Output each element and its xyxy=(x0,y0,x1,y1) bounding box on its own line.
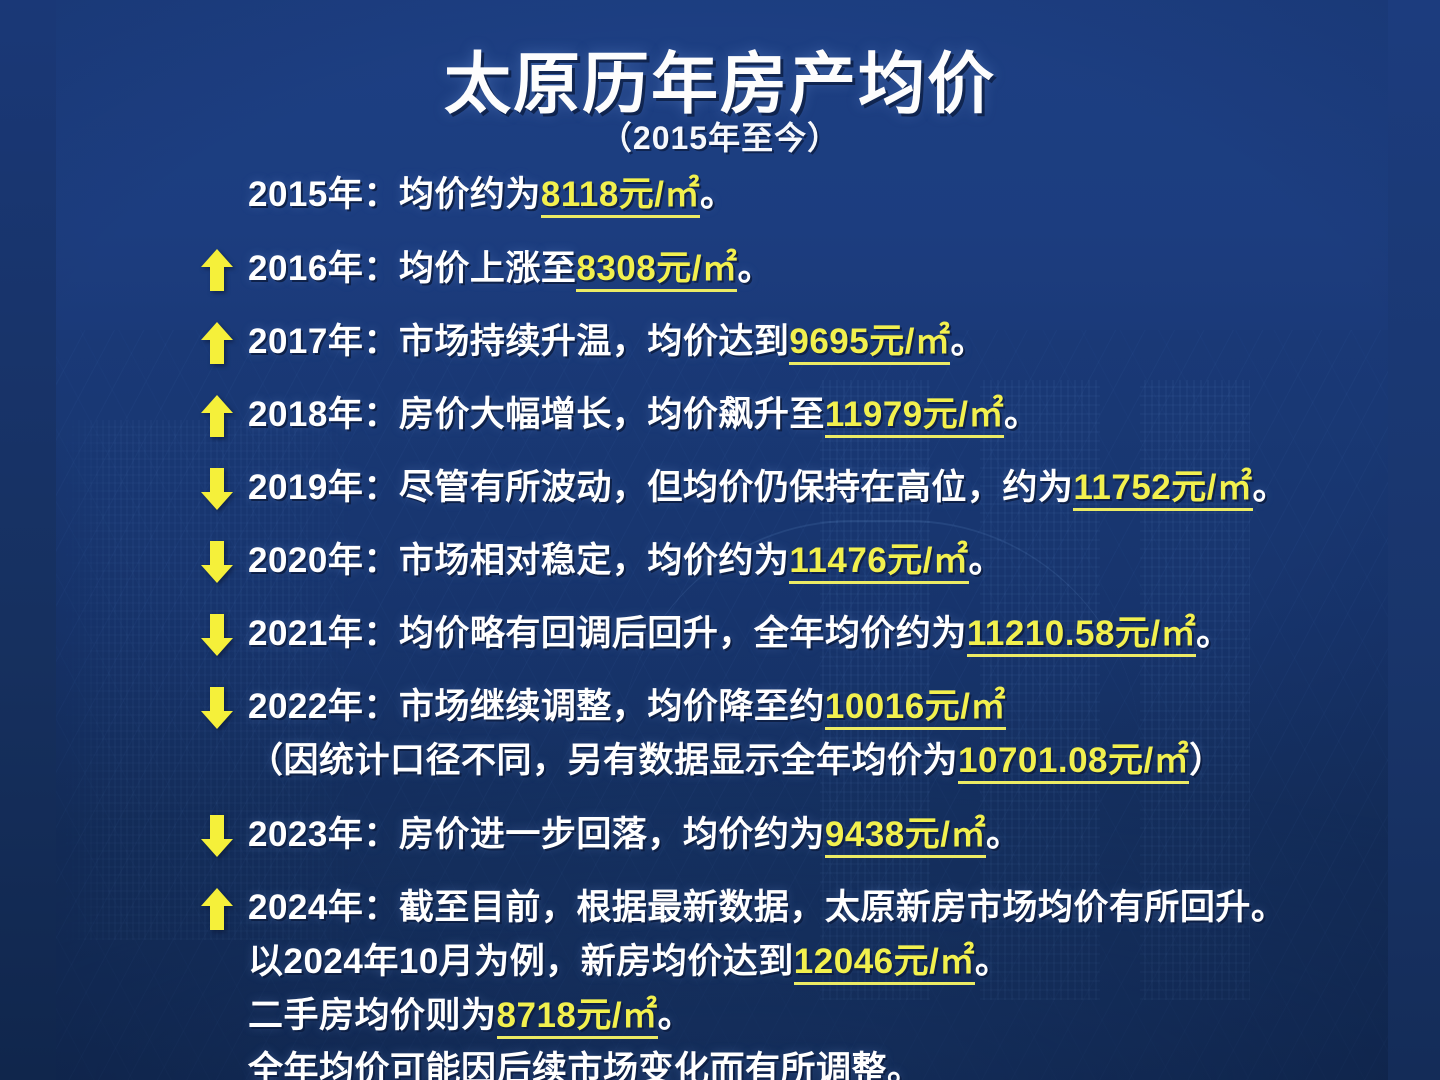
text-segment: 全年均价可能因后续市场变化而有所调整。 xyxy=(248,1050,923,1080)
price-value: 8718元/㎡ xyxy=(497,996,658,1039)
text-segment: 。 xyxy=(1253,468,1289,507)
year-text-line: 2018年：房价大幅增长，均价飙升至11979元/㎡。 xyxy=(248,388,1440,442)
price-value: 11210.58元/㎡ xyxy=(967,614,1196,657)
year-row: 2022年：市场继续调整，均价降至约10016元/㎡（因统计口径不同，另有数据显… xyxy=(0,680,1440,788)
year-row-text: 2024年：截至目前，根据最新数据，太原新房市场均价有所回升。以2024年10月… xyxy=(248,881,1440,1080)
text-segment: 2015年：均价约为 xyxy=(248,175,541,214)
arrow-up-icon xyxy=(200,248,234,292)
text-segment: 2019年：尽管有所波动，但均价仍保持在高位，约为 xyxy=(248,468,1073,507)
price-value: 8308元/㎡ xyxy=(576,249,737,292)
year-text-line: 2019年：尽管有所波动，但均价仍保持在高位，约为11752元/㎡。 xyxy=(248,461,1440,515)
trend-indicator-slot xyxy=(186,461,248,511)
trend-indicator-slot xyxy=(186,607,248,657)
text-segment: 。 xyxy=(1196,614,1232,653)
year-row-text: 2015年：均价约为8118元/㎡。 xyxy=(248,168,1440,222)
text-segment: 。 xyxy=(975,942,1011,981)
arrow-up-icon xyxy=(200,321,234,365)
trend-indicator-slot xyxy=(186,388,248,438)
year-text-line: 以2024年10月为例，新房均价达到12046元/㎡。 xyxy=(248,935,1440,989)
year-text-line: 2023年：房价进一步回落，均价约为9438元/㎡。 xyxy=(248,808,1440,862)
price-value: 9695元/㎡ xyxy=(789,322,950,365)
arrow-down-icon xyxy=(200,467,234,511)
trend-indicator-slot xyxy=(186,808,248,858)
arrow-down-icon xyxy=(200,814,234,858)
infographic-canvas: 太原历年房产均价 （2015年至今） 2015年：均价约为8118元/㎡。201… xyxy=(0,0,1440,1080)
year-row: 2024年：截至目前，根据最新数据，太原新房市场均价有所回升。以2024年10月… xyxy=(0,881,1440,1080)
trend-indicator-slot xyxy=(186,315,248,365)
year-text-line: 2024年：截至目前，根据最新数据，太原新房市场均价有所回升。 xyxy=(248,881,1440,935)
year-row: 2021年：均价略有回调后回升，全年均价约为11210.58元/㎡。 xyxy=(0,607,1440,663)
price-value: 11476元/㎡ xyxy=(789,541,968,584)
text-segment: 。 xyxy=(969,541,1005,580)
year-row: 2015年：均价约为8118元/㎡。 xyxy=(0,168,1440,224)
year-row-text: 2020年：市场相对稳定，均价约为11476元/㎡。 xyxy=(248,534,1440,588)
year-row-text: 2016年：均价上涨至8308元/㎡。 xyxy=(248,242,1440,296)
year-text-line: 2017年：市场持续升温，均价达到9695元/㎡。 xyxy=(248,315,1440,369)
text-segment: 2024年：截至目前，根据最新数据，太原新房市场均价有所回升。 xyxy=(248,888,1286,927)
price-value: 12046元/㎡ xyxy=(794,942,975,985)
content-layer: 太原历年房产均价 （2015年至今） 2015年：均价约为8118元/㎡。201… xyxy=(0,0,1440,1080)
arrow-down-icon xyxy=(200,686,234,730)
price-value: 11979元/㎡ xyxy=(825,395,1004,438)
text-segment: 2021年：均价略有回调后回升，全年均价约为 xyxy=(248,614,967,653)
arrow-down-icon xyxy=(200,613,234,657)
year-row: 2016年：均价上涨至8308元/㎡。 xyxy=(0,242,1440,298)
trend-indicator-slot xyxy=(186,881,248,931)
price-value: 9438元/㎡ xyxy=(825,815,986,858)
text-segment: 。 xyxy=(986,815,1022,854)
year-text-line: 2016年：均价上涨至8308元/㎡。 xyxy=(248,242,1440,296)
year-text-line: 2022年：市场继续调整，均价降至约10016元/㎡ xyxy=(248,680,1440,734)
text-segment: 以2024年10月为例，新房均价达到 xyxy=(248,942,794,981)
year-row: 2018年：房价大幅增长，均价飙升至11979元/㎡。 xyxy=(0,388,1440,444)
price-value: 10701.08元/㎡ xyxy=(958,741,1189,784)
year-row-text: 2017年：市场持续升温，均价达到9695元/㎡。 xyxy=(248,315,1440,369)
text-segment: 2023年：房价进一步回落，均价约为 xyxy=(248,815,825,854)
year-row-text: 2022年：市场继续调整，均价降至约10016元/㎡（因统计口径不同，另有数据显… xyxy=(248,680,1440,788)
page-subtitle: （2015年至今） xyxy=(0,113,1440,159)
text-segment: 。 xyxy=(700,175,736,214)
year-row-text: 2023年：房价进一步回落，均价约为9438元/㎡。 xyxy=(248,808,1440,862)
year-row-text: 2019年：尽管有所波动，但均价仍保持在高位，约为11752元/㎡。 xyxy=(248,461,1440,515)
year-text-line: 二手房均价则为8718元/㎡。 xyxy=(248,989,1440,1043)
text-segment: 2016年：均价上涨至 xyxy=(248,249,576,288)
year-row-text: 2021年：均价略有回调后回升，全年均价约为11210.58元/㎡。 xyxy=(248,607,1440,661)
text-segment: 二手房均价则为 xyxy=(248,996,497,1035)
year-text-line: 2021年：均价略有回调后回升，全年均价约为11210.58元/㎡。 xyxy=(248,607,1440,661)
year-text-line: 全年均价可能因后续市场变化而有所调整。 xyxy=(248,1043,1440,1080)
year-row: 2020年：市场相对稳定，均价约为11476元/㎡。 xyxy=(0,534,1440,590)
trend-indicator-slot xyxy=(186,680,248,730)
price-value: 11752元/㎡ xyxy=(1073,468,1252,511)
trend-indicator-slot xyxy=(186,534,248,584)
price-value: 10016元/㎡ xyxy=(825,687,1006,730)
arrow-down-icon xyxy=(200,540,234,584)
arrow-up-icon xyxy=(200,887,234,931)
text-segment: 。 xyxy=(1004,395,1040,434)
arrow-up-icon xyxy=(200,394,234,438)
text-segment: 2020年：市场相对稳定，均价约为 xyxy=(248,541,789,580)
year-row: 2023年：房价进一步回落，均价约为9438元/㎡。 xyxy=(0,808,1440,864)
text-segment: 。 xyxy=(737,249,773,288)
year-text-line: （因统计口径不同，另有数据显示全年均价为10701.08元/㎡） xyxy=(248,734,1440,788)
text-segment: ） xyxy=(1189,741,1225,780)
year-list: 2015年：均价约为8118元/㎡。2016年：均价上涨至8308元/㎡。201… xyxy=(0,168,1440,1080)
trend-indicator-slot xyxy=(186,168,248,174)
text-segment: 2022年：市场继续调整，均价降至约 xyxy=(248,687,825,726)
year-text-line: 2020年：市场相对稳定，均价约为11476元/㎡。 xyxy=(248,534,1440,588)
year-row: 2019年：尽管有所波动，但均价仍保持在高位，约为11752元/㎡。 xyxy=(0,461,1440,517)
year-row: 2017年：市场持续升温，均价达到9695元/㎡。 xyxy=(0,315,1440,371)
text-segment: 2017年：市场持续升温，均价达到 xyxy=(248,322,789,361)
text-segment: 。 xyxy=(658,996,694,1035)
text-segment: （因统计口径不同，另有数据显示全年均价为 xyxy=(248,741,958,780)
text-segment: 2018年：房价大幅增长，均价飙升至 xyxy=(248,395,825,434)
trend-indicator-slot xyxy=(186,242,248,292)
price-value: 8118元/㎡ xyxy=(541,175,700,218)
year-text-line: 2015年：均价约为8118元/㎡。 xyxy=(248,168,1440,222)
year-row-text: 2018年：房价大幅增长，均价飙升至11979元/㎡。 xyxy=(248,388,1440,442)
text-segment: 。 xyxy=(950,322,986,361)
